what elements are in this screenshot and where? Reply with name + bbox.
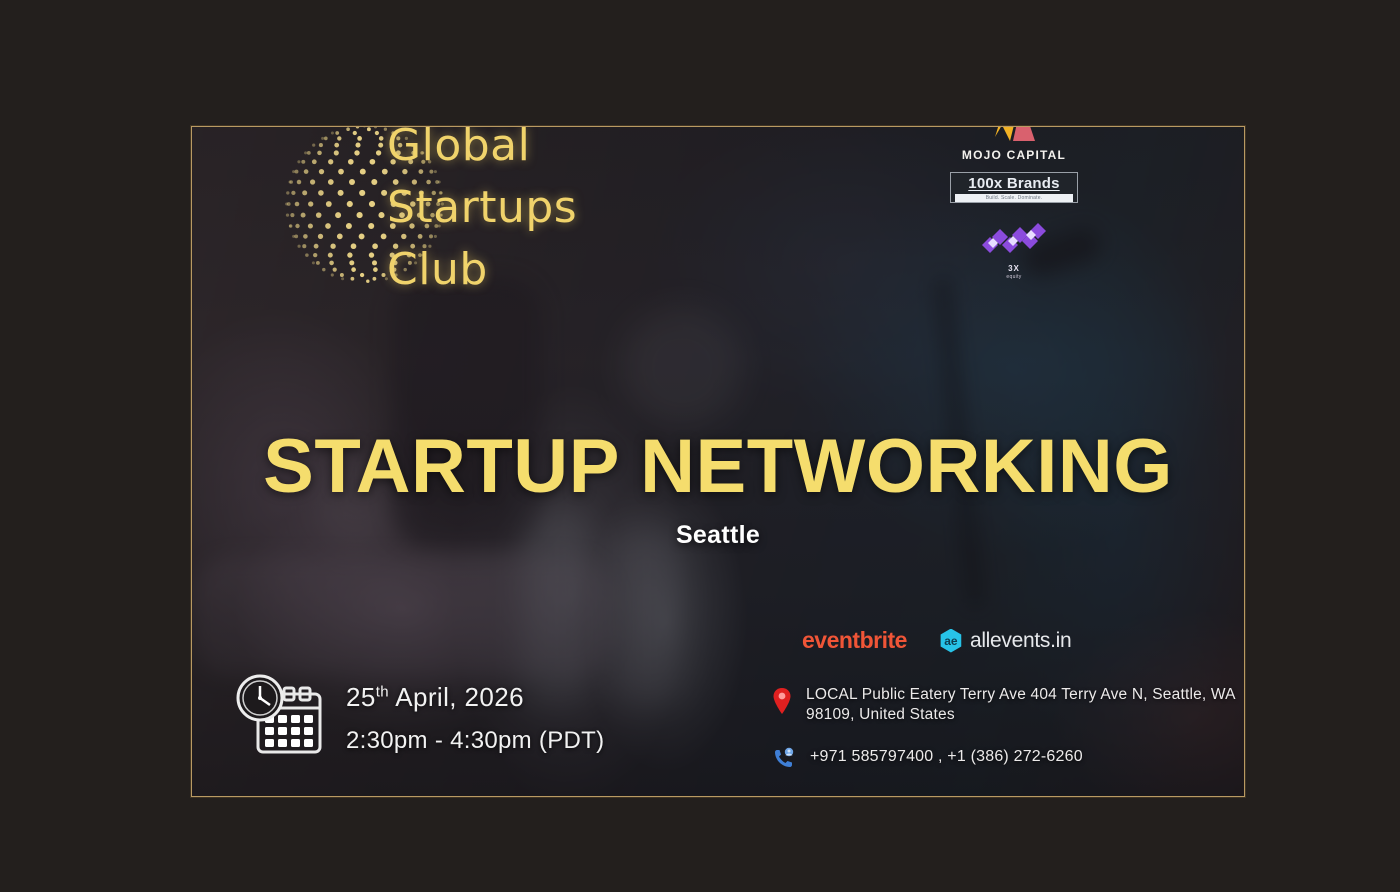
eventbrite-logo[interactable]: eventbrite [802, 627, 907, 654]
venue-row: LOCAL Public Eatery Terry Ave 404 Terry … [772, 685, 1242, 725]
club-name: Global Startups Club [387, 126, 577, 301]
event-date-day: 25 [346, 682, 376, 712]
purple-blocks-icon [978, 219, 1050, 259]
sponsor-3x-equity: 3X equity [929, 219, 1099, 280]
phone-row: +971 585797400 , +1 (386) 272-6260 [772, 747, 1242, 770]
event-poster: Global Startups Club MOJO CAPITAL 100x B… [0, 0, 1400, 892]
phone-contact-icon [772, 746, 796, 770]
club-name-line-1: Global [387, 126, 577, 177]
club-name-line-2: Startups [387, 177, 577, 239]
3x-name: 3X [929, 264, 1099, 273]
event-date-ordinal: th [376, 683, 389, 700]
page-title: STARTUP NETWORKING [192, 423, 1244, 510]
event-time: 2:30pm - 4:30pm (PDT) [346, 727, 604, 755]
mojo-capital-arrow-icon [983, 126, 1045, 145]
phone-numbers: +971 585797400 , +1 (386) 272-6260 [810, 747, 1083, 767]
club-name-line-3: Club [387, 239, 577, 301]
ticketing-platforms: eventbrite ae allevents.in [802, 627, 1071, 654]
100x-brands-title: 100x Brands [955, 175, 1073, 192]
100x-brands-box-icon: 100x Brands Build. Scale. Dominate. [950, 172, 1078, 203]
sponsor-100x-brands: 100x Brands Build. Scale. Dominate. [929, 172, 1099, 203]
sponsor-mojo-capital: MOJO CAPITAL [929, 126, 1099, 162]
contact-block: LOCAL Public Eatery Terry Ave 404 Terry … [772, 685, 1242, 792]
date-time-block: 25th April, 2026 2:30pm - 4:30pm (PDT) [234, 672, 604, 764]
city-subtitle: Seattle [192, 521, 1244, 550]
allevents-name: allevents.in [970, 629, 1071, 653]
mojo-capital-name: MOJO CAPITAL [929, 148, 1099, 162]
100x-brands-tagline: Build. Scale. Dominate. [955, 194, 1073, 202]
event-date-rest: April, 2026 [389, 682, 524, 712]
3x-tagline: equity [929, 274, 1099, 280]
map-pin-icon [772, 687, 792, 715]
poster-frame: Global Startups Club MOJO CAPITAL 100x B… [191, 126, 1245, 797]
sponsor-logos: MOJO CAPITAL 100x Brands Build. Scale. D… [929, 126, 1099, 290]
allevents-logo[interactable]: ae allevents.in [939, 629, 1071, 653]
allevents-hex-icon: ae [939, 629, 963, 653]
venue-address: LOCAL Public Eatery Terry Ave 404 Terry … [806, 685, 1242, 725]
event-date: 25th April, 2026 [346, 682, 604, 713]
calendar-clock-icon [234, 672, 326, 764]
